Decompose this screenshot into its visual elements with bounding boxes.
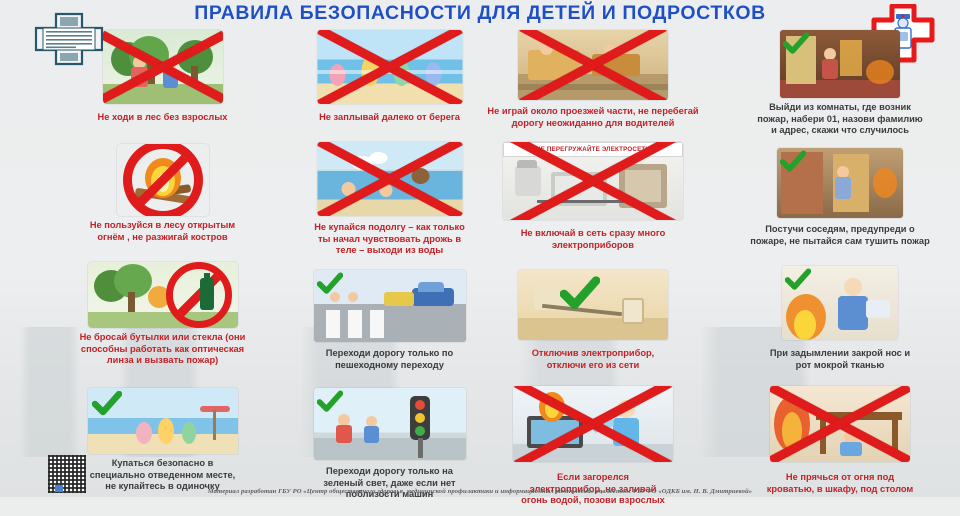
card-3-3-caption: Отключив электроприбор, отключи его из с… <box>468 348 718 371</box>
card-4-1-caption: Выйди из комнаты, где возник пожар, набе… <box>722 102 958 137</box>
card-3-4[interactable]: Если загорелся электроприбор, не заливай… <box>468 380 718 516</box>
card-1-1-caption: Не ходи в лес без взрослых <box>40 112 285 124</box>
card-3-1-caption: Не играй около проезжей части, не перебе… <box>468 106 718 129</box>
card-4-1[interactable]: Выйди из комнаты, где возник пожар, набе… <box>722 28 958 140</box>
green-check <box>785 268 811 292</box>
card-3-1-image <box>518 30 668 100</box>
card-1-4-image <box>88 388 238 454</box>
card-3-3-image <box>518 270 668 340</box>
card-3-2[interactable]: НЕ ПЕРЕГРУЖАЙТЕ ЭЛЕКТРОСЕТЬ Не включай в… <box>468 140 718 268</box>
card-1-3[interactable]: Не бросай бутылки или стекла (они способ… <box>40 258 285 383</box>
card-2-3-image <box>314 270 466 342</box>
card-1-2-caption: Не пользуйся в лесу открытым огнём , не … <box>40 220 285 243</box>
card-2-4-image <box>314 388 466 460</box>
card-4-1-image <box>780 30 900 98</box>
card-4-3[interactable]: При задымлении закрой нос и рот мокрой т… <box>722 256 958 374</box>
card-3-2-banner: НЕ ПЕРЕГРУЖАЙТЕ ЭЛЕКТРОСЕТЬ <box>507 143 679 156</box>
card-4-4-image <box>770 386 910 462</box>
card-4-3-image <box>782 266 898 340</box>
green-check <box>783 32 809 56</box>
card-3-2-image: НЕ ПЕРЕГРУЖАЙТЕ ЭЛЕКТРОСЕТЬ <box>503 142 683 220</box>
card-1-1-image <box>103 30 223 104</box>
green-check <box>780 150 806 174</box>
green-check <box>317 272 343 296</box>
prohibition-circle <box>123 144 203 216</box>
card-2-2-image <box>317 142 462 216</box>
card-4-2-caption: Постучи соседям, предупреди о пожаре, не… <box>722 224 958 247</box>
card-3-2-caption: Не включай в сеть сразу много электропри… <box>468 228 718 251</box>
card-3-3[interactable]: Отключив электроприбор, отключи его из с… <box>468 268 718 380</box>
card-4-2[interactable]: Постучи соседям, предупреди о пожаре, не… <box>722 146 958 264</box>
green-check <box>92 391 122 417</box>
prohibition-circle <box>166 262 232 328</box>
card-4-2-image <box>777 148 903 218</box>
footer-credit: Материал разработан ГБУ РО «Центр общест… <box>0 488 960 495</box>
green-check <box>317 390 343 414</box>
page-title: ПРАВИЛА БЕЗОПАСНОСТИ ДЛЯ ДЕТЕЙ И ПОДРОСТ… <box>150 2 810 25</box>
card-2-1-image <box>317 30 462 104</box>
card-3-1[interactable]: Не играй около проезжей части, не перебе… <box>468 28 718 136</box>
card-1-2-image <box>117 144 209 216</box>
card-3-4-image <box>513 386 673 462</box>
card-1-2[interactable]: Не пользуйся в лесу открытым огнём , не … <box>40 140 285 252</box>
card-1-1[interactable]: Не ходи в лес без взрослых <box>40 28 285 138</box>
poster-sheet: ПРАВИЛА БЕЗОПАСНОСТИ ДЛЯ ДЕТЕЙ И ПОДРОСТ… <box>0 0 960 497</box>
card-1-3-image <box>88 262 238 328</box>
card-1-3-caption: Не бросай бутылки или стекла (они способ… <box>40 332 285 367</box>
green-check <box>560 276 600 312</box>
